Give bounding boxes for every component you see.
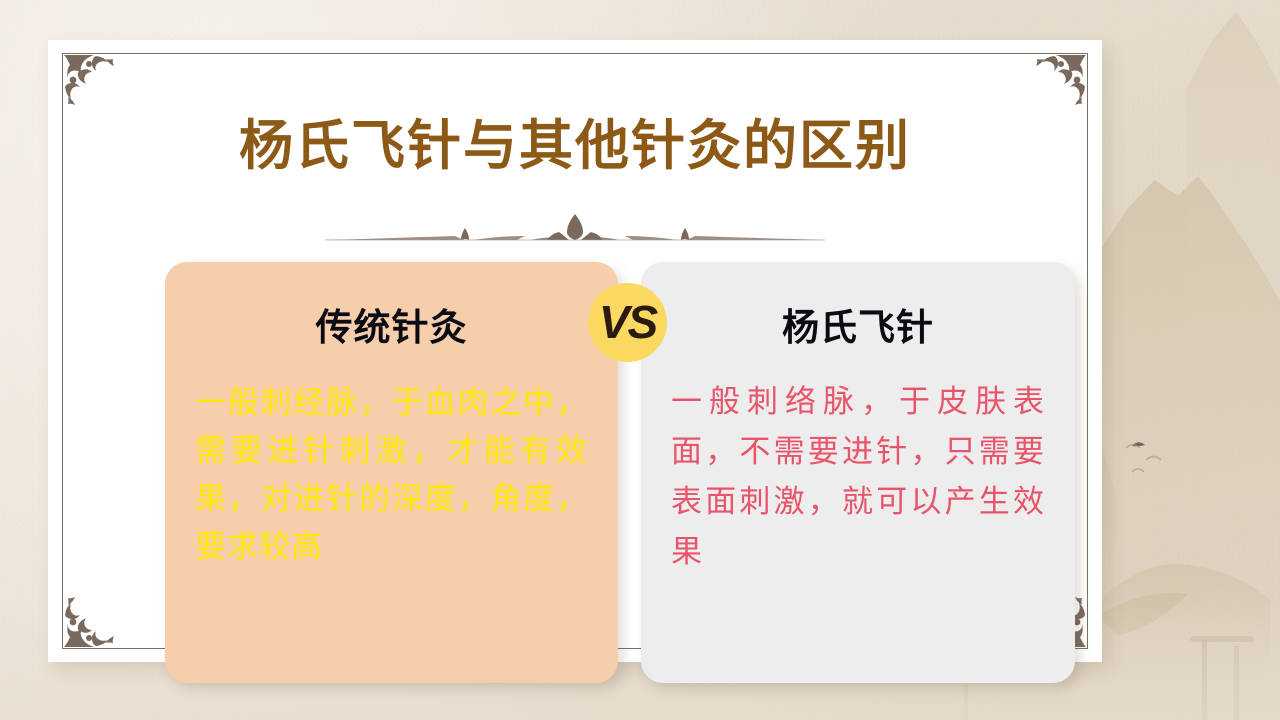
ornamental-divider bbox=[325, 212, 825, 248]
card-yang-flying-needle[interactable]: 杨氏飞针 一般刺络脉，于皮肤表面，不需要进针，只需要表面刺激，就可以产生效果 bbox=[641, 262, 1075, 683]
content-panel: 杨氏飞针与其他针灸的区别 bbox=[48, 40, 1102, 662]
ornament-corner-bottom-left-icon bbox=[60, 589, 122, 651]
card-left-heading: 传统针灸 bbox=[195, 308, 588, 349]
slide: 杨氏飞针与其他针灸的区别 bbox=[0, 0, 1280, 720]
card-right-body: 一般刺络脉，于皮肤表面，不需要进针，只需要表面刺激，就可以产生效果 bbox=[671, 377, 1045, 578]
ornament-corner-top-right-icon bbox=[1028, 51, 1090, 113]
card-right-heading: 杨氏飞针 bbox=[671, 308, 1045, 349]
vs-badge-label: VS bbox=[599, 299, 656, 345]
ornament-corner-top-left-icon bbox=[60, 51, 122, 113]
card-left-body: 一般刺经脉，于血肉之中，需要进针刺激，才能有效果，对进针的深度，角度，要求较高 bbox=[195, 379, 588, 571]
slide-title: 杨氏飞针与其他针灸的区别 bbox=[48, 118, 1102, 175]
card-traditional-acupuncture[interactable]: 传统针灸 一般刺经脉，于血肉之中，需要进针刺激，才能有效果，对进针的深度，角度，… bbox=[165, 262, 618, 683]
vs-badge: VS bbox=[588, 283, 667, 362]
